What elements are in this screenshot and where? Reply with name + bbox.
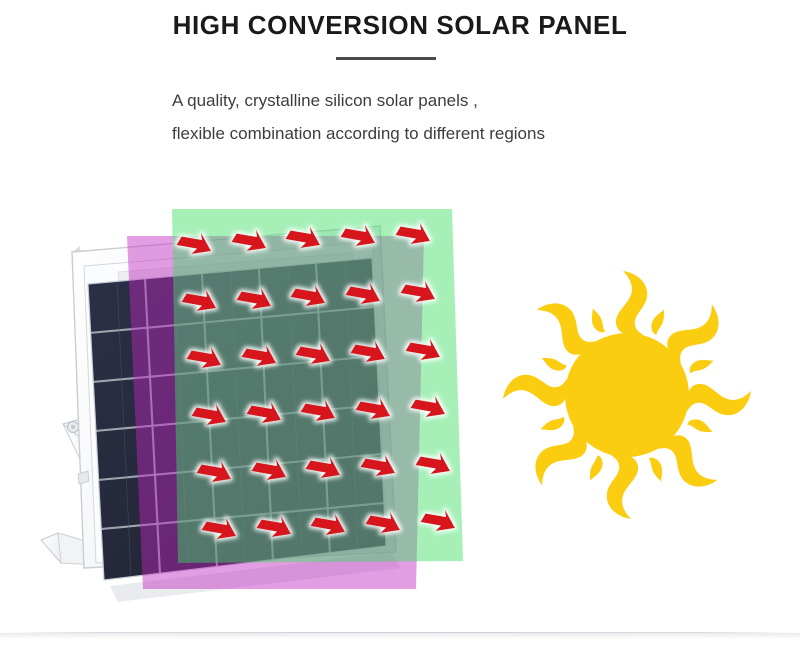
solar-panel	[72, 226, 400, 602]
product-banner: HIGH CONVERSION SOLAR PANEL A quality, c…	[0, 0, 800, 651]
incident-light-arrows	[175, 216, 459, 545]
sun-icon	[494, 262, 760, 528]
magenta-spectrum-overlay	[127, 236, 424, 589]
panel-stand	[41, 420, 139, 566]
sun-core	[565, 333, 689, 457]
green-spectrum-overlay	[172, 209, 463, 563]
solar-cell-grid	[88, 258, 386, 580]
footer-divider	[0, 632, 800, 633]
